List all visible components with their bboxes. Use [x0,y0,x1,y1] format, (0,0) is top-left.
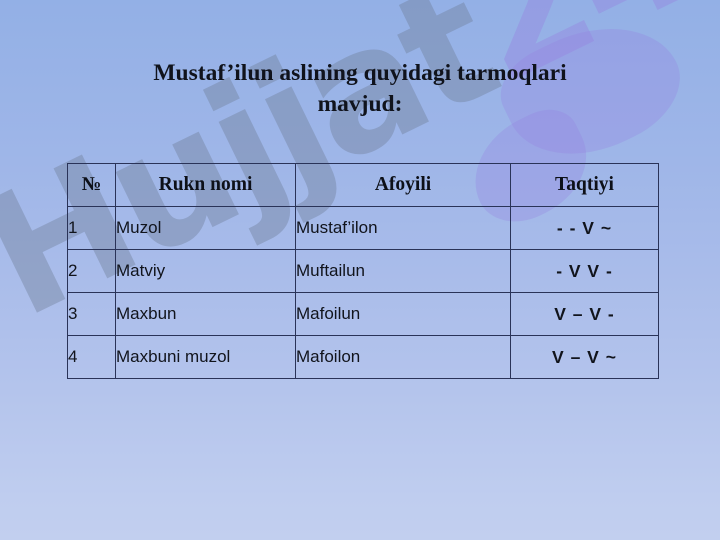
cell-number: 2 [68,250,116,293]
cell-taqtiyi: V – V - [511,293,659,336]
column-header-taqtiyi: Taqtiyi [511,164,659,207]
cell-number: 3 [68,293,116,336]
cell-rukn-nomi: Maxbun [116,293,296,336]
column-header-afoyili: Afoyili [296,164,511,207]
cell-rukn-nomi: Muzol [116,207,296,250]
cell-rukn-nomi: Maxbuni muzol [116,336,296,379]
cell-rukn-nomi: Matviy [116,250,296,293]
page-title-line-2: mavjud: [318,91,403,117]
cell-number: 4 [68,336,116,379]
cell-taqtiyi: - - V ~ [511,207,659,250]
cell-taqtiyi: V – V ~ [511,336,659,379]
page-title: Mustaf’ilun aslining quyidagi tarmoqlari… [110,58,610,120]
tarmoqlar-table: № Rukn nomi Afoyili Taqtiyi 1 Muzol Must… [67,163,659,379]
slide-canvas: Hujjat24 Mustaf’ilun aslining quyidagi t… [0,0,720,540]
table-row: 1 Muzol Mustaf’ilon - - V ~ [68,207,659,250]
page-title-line-1: Mustaf’ilun aslining quyidagi tarmoqlari [153,60,566,86]
tarmoqlar-table-wrap: № Rukn nomi Afoyili Taqtiyi 1 Muzol Must… [67,163,658,379]
cell-afoyili: Mafoilun [296,293,511,336]
cell-afoyili: Mafoilon [296,336,511,379]
column-header-number: № [68,164,116,207]
column-header-rukn-nomi: Rukn nomi [116,164,296,207]
table-row: 4 Maxbuni muzol Mafoilon V – V ~ [68,336,659,379]
table-row: 2 Matviy Muftailun - V V - [68,250,659,293]
cell-taqtiyi: - V V - [511,250,659,293]
cell-number: 1 [68,207,116,250]
cell-afoyili: Muftailun [296,250,511,293]
cell-afoyili: Mustaf’ilon [296,207,511,250]
table-row: 3 Maxbun Mafoilun V – V - [68,293,659,336]
table-header-row: № Rukn nomi Afoyili Taqtiyi [68,164,659,207]
